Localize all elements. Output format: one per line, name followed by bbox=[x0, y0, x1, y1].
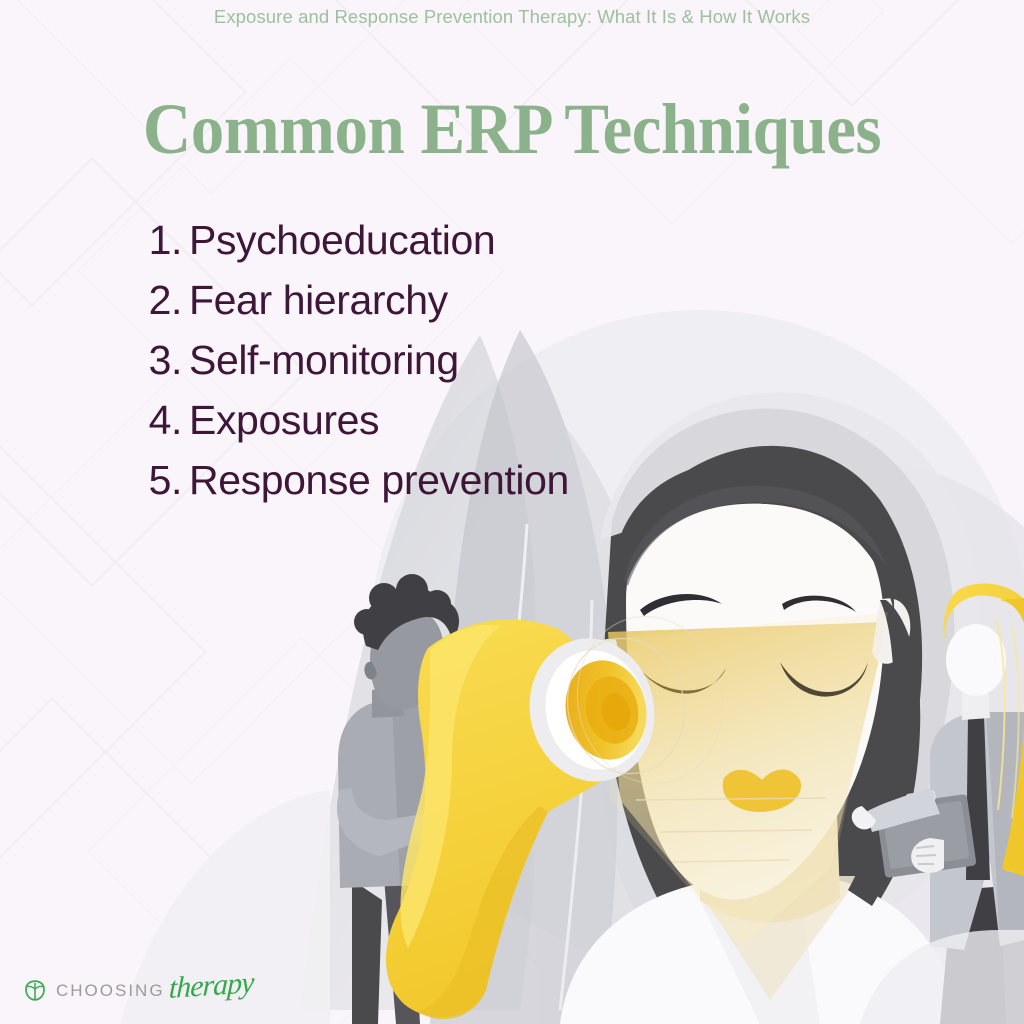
list-item: 2. Fear hierarchy bbox=[130, 270, 569, 330]
list-item-number: 3. bbox=[130, 330, 189, 390]
list-item-label: Psychoeducation bbox=[189, 210, 495, 270]
list-item-label: Fear hierarchy bbox=[189, 270, 448, 330]
page-header: Exposure and Response Prevention Therapy… bbox=[0, 6, 1024, 28]
infographic-canvas: Exposure and Response Prevention Therapy… bbox=[0, 0, 1024, 1024]
list-item-number: 2. bbox=[130, 270, 189, 330]
list-item-number: 5. bbox=[130, 450, 189, 510]
leaf-icon bbox=[22, 978, 48, 1004]
list-item-number: 1. bbox=[130, 210, 189, 270]
list-item-label: Response prevention bbox=[189, 450, 569, 510]
list-item-number: 4. bbox=[130, 390, 189, 450]
logo-script: therapy bbox=[168, 966, 254, 1006]
list-item: 1. Psychoeducation bbox=[130, 210, 569, 270]
list-item: 3. Self-monitoring bbox=[130, 330, 569, 390]
list-item-label: Exposures bbox=[189, 390, 379, 450]
list-item: 5. Response prevention bbox=[130, 450, 569, 510]
techniques-list: 1. Psychoeducation 2. Fear hierarchy 3. … bbox=[130, 210, 569, 510]
brand-logo[interactable]: CHOOSING therapy bbox=[22, 974, 253, 1008]
logo-wordmark: CHOOSING bbox=[56, 981, 165, 1001]
page-title: Common ERP Techniques bbox=[36, 88, 988, 171]
list-item-label: Self-monitoring bbox=[189, 330, 459, 390]
list-item: 4. Exposures bbox=[130, 390, 569, 450]
